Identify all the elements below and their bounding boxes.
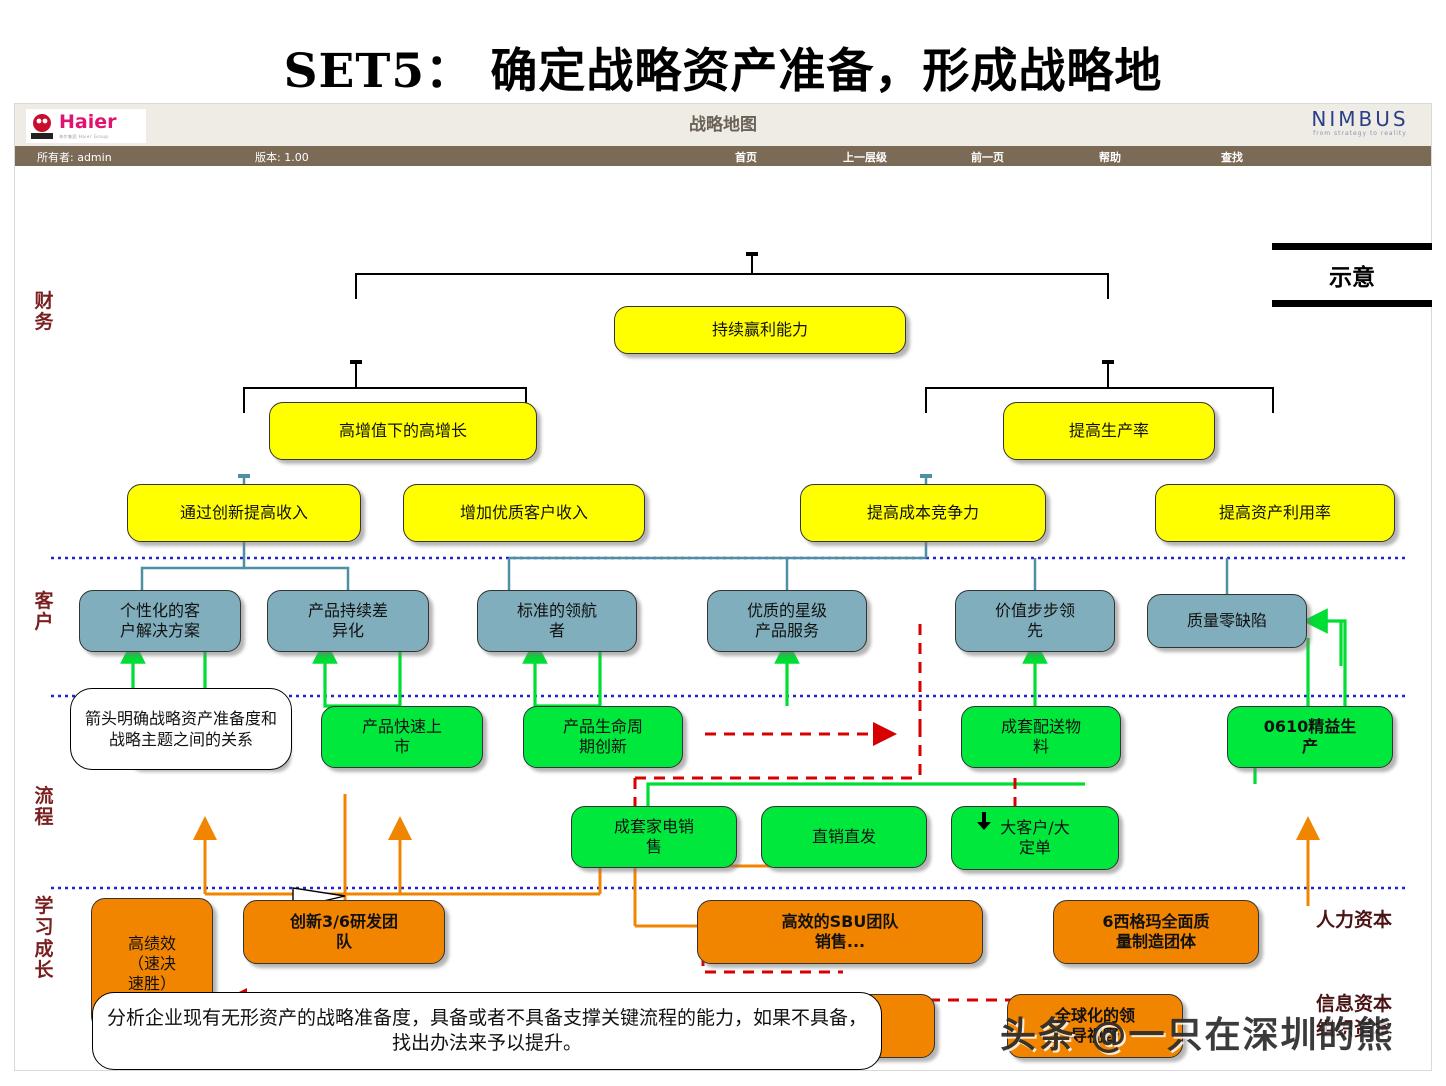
node-cus-6-label: 质量零缺陷 <box>1187 611 1267 631</box>
node-fin-2[interactable]: 高增值下的高增长 <box>269 402 537 460</box>
node-fin-5-label: 增加优质客户收入 <box>460 503 588 523</box>
nav-links: 首页 上一层级 前一页 帮助 查找 <box>735 149 1355 165</box>
node-pro-2[interactable]: 产品快速上 市 <box>321 706 483 768</box>
strategy-map-canvas: 财务 客户 流程 学习成长 持续赢利能力 高增值下的高增长 提高生产率 通过创新… <box>15 166 1433 1071</box>
node-cus-5-label: 价值步步领 先 <box>995 601 1075 641</box>
perspective-label-customer: 客户 <box>27 591 61 634</box>
node-pro-4-label: 成套配送物 料 <box>1001 717 1081 757</box>
node-cus-1-label: 个性化的客 户解决方案 <box>120 601 200 641</box>
node-pro-3-label: 产品生命周 期创新 <box>563 717 643 757</box>
customer-wire-tees <box>238 474 932 478</box>
callout-bottom: 分析企业现有无形资产的战略准备度，具备或者不具备支撑关键流程的能力，如果不具备，… <box>92 992 882 1070</box>
perspective-label-learning: 学习成长 <box>27 896 61 981</box>
nav-previous-page-link[interactable]: 前一页 <box>971 149 1004 165</box>
callout-arrows-text: 箭头明确战略资产准备度和战略主题之间的关系 <box>81 708 281 750</box>
node-fin-3[interactable]: 提高生产率 <box>1003 402 1215 460</box>
node-lrn-3-label: 高效的SBU团队 销售... <box>782 912 899 952</box>
nimbus-wordmark: NIMBUS <box>1299 109 1421 129</box>
node-pro-7-label: 直销直发 <box>812 827 876 847</box>
node-fin-4[interactable]: 通过创新提高收入 <box>127 484 361 542</box>
node-cus-4[interactable]: 优质的星级 产品服务 <box>707 590 867 652</box>
nav-parent-level-link[interactable]: 上一层级 <box>843 149 887 165</box>
perspective-label-process: 流程 <box>27 786 61 829</box>
down-arrow-icon <box>974 811 994 831</box>
nav-home-link[interactable]: 首页 <box>735 149 757 165</box>
node-pro-7[interactable]: 直销直发 <box>761 806 927 868</box>
node-lrn-4-label: 6西格玛全面质 量制造团体 <box>1102 912 1209 952</box>
node-pro-8-label: 大客户/大 定单 <box>1000 818 1069 858</box>
nimbus-tagline: from strategy to reality <box>1299 129 1421 138</box>
node-cus-6[interactable]: 质量零缺陷 <box>1147 594 1307 648</box>
node-pro-4[interactable]: 成套配送物 料 <box>961 706 1121 768</box>
nav-search-link[interactable]: 查找 <box>1221 149 1243 165</box>
app-navbar: 所有者: admin 版本: 1.00 首页 上一层级 前一页 帮助 查找 <box>15 146 1431 166</box>
node-cus-3-label: 标准的领航 者 <box>517 601 597 641</box>
node-pro-6[interactable]: 成套家电销 售 <box>571 806 737 868</box>
node-pro-6-label: 成套家电销 售 <box>614 817 694 857</box>
node-cus-1[interactable]: 个性化的客 户解决方案 <box>79 590 241 652</box>
node-lrn-2-label: 创新3/6研发团 队 <box>290 912 398 952</box>
node-fin-5[interactable]: 增加优质客户收入 <box>403 484 645 542</box>
app-window-title: 战略地图 <box>15 104 1431 146</box>
nimbus-logo: NIMBUS from strategy to reality <box>1299 109 1421 141</box>
app-window: Haier 海尔集团 Haier Group 战略地图 NIMBUS from … <box>14 103 1432 1071</box>
node-fin-1[interactable]: 持续赢利能力 <box>614 306 906 354</box>
node-fin-7-label: 提高资产利用率 <box>1219 503 1331 523</box>
node-fin-7[interactable]: 提高资产利用率 <box>1155 484 1395 542</box>
legend-box: 示意 <box>1272 243 1432 307</box>
nav-help-link[interactable]: 帮助 <box>1099 149 1121 165</box>
node-lrn-2[interactable]: 创新3/6研发团 队 <box>243 900 445 964</box>
watermark: 头条 @一只在深圳的熊 <box>1000 1006 1395 1058</box>
capital-label-human: 人力资本 <box>1279 908 1429 933</box>
callout-bottom-text: 分析企业现有无形资产的战略准备度，具备或者不具备支撑关键流程的能力，如果不具备，… <box>103 1006 871 1056</box>
node-pro-5[interactable]: 0610精益生 产 <box>1227 706 1393 768</box>
node-cus-3[interactable]: 标准的领航 者 <box>477 590 637 652</box>
node-fin-1-label: 持续赢利能力 <box>712 320 808 340</box>
node-fin-2-label: 高增值下的高增长 <box>339 421 467 441</box>
app-header: Haier 海尔集团 Haier Group 战略地图 NIMBUS from … <box>15 104 1431 146</box>
node-cus-5[interactable]: 价值步步领 先 <box>955 590 1115 652</box>
node-cus-2-label: 产品持续差 异化 <box>308 601 388 641</box>
version-label: 版本: 1.00 <box>255 149 309 165</box>
node-cus-4-label: 优质的星级 产品服务 <box>747 601 827 641</box>
node-lrn-1-label: 高绩效 （速决 速胜） <box>128 934 176 994</box>
node-lrn-3[interactable]: 高效的SBU团队 销售... <box>697 900 983 964</box>
node-lrn-4[interactable]: 6西格玛全面质 量制造团体 <box>1053 900 1259 964</box>
node-pro-8[interactable]: 大客户/大 定单 <box>951 806 1119 870</box>
owner-label: 所有者: admin <box>37 149 112 165</box>
legend-label: 示意 <box>1329 258 1375 292</box>
node-pro-3[interactable]: 产品生命周 期创新 <box>523 706 683 768</box>
node-fin-6[interactable]: 提高成本竞争力 <box>800 484 1046 542</box>
node-pro-5-label: 0610精益生 产 <box>1264 717 1357 757</box>
slide-stage: SET5： 确定战略资产准备，形成战略地 Haier 海尔集团 Haier Gr… <box>0 0 1446 1086</box>
node-pro-2-label: 产品快速上 市 <box>362 717 442 757</box>
callout-arrows: 箭头明确战略资产准备度和战略主题之间的关系 <box>70 688 292 770</box>
perspective-label-financial: 财务 <box>27 291 61 334</box>
page-title: SET5： 确定战略资产准备，形成战略地 <box>0 32 1446 101</box>
node-fin-6-label: 提高成本竞争力 <box>867 503 979 523</box>
node-cus-2[interactable]: 产品持续差 异化 <box>267 590 429 652</box>
node-fin-3-label: 提高生产率 <box>1069 421 1149 441</box>
node-fin-4-label: 通过创新提高收入 <box>180 503 308 523</box>
